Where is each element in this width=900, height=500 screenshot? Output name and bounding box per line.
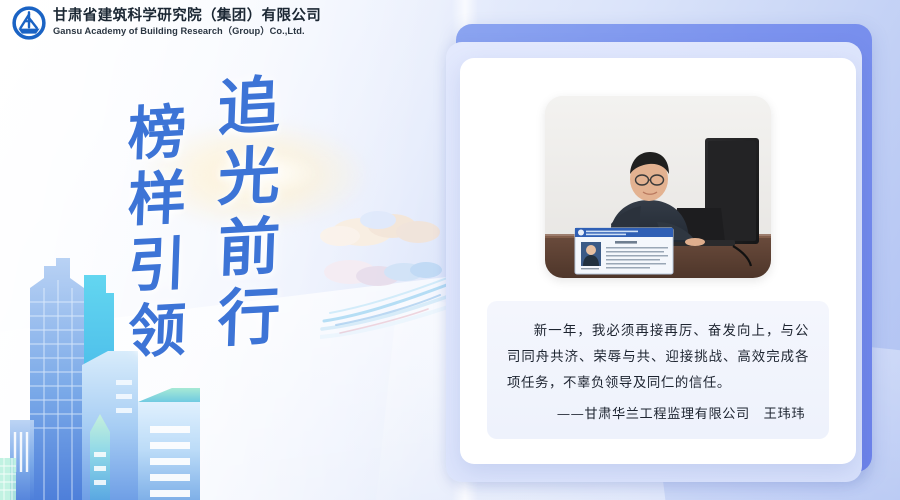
quote-text: 新一年，我必须再接再厉、奋发向上，与公司同舟共济、荣辱与共、迎接挑战、高效完成各… [507,319,809,397]
company-name-cn: 甘肃省建筑科学研究院（集团）有限公司 [53,9,321,24]
gansu-academy-circular-logo-icon [12,6,46,40]
employee-photo-illustration-icon [545,96,771,278]
brand-text: 甘肃省建筑科学研究院（集团）有限公司 Gansu Academy of Buil… [53,9,321,36]
company-header: 甘肃省建筑科学研究院（集团）有限公司 Gansu Academy of Buil… [12,6,321,40]
city-skyline-illustration-icon [0,170,224,500]
testimonial-card: 新一年，我必须再接再厉、奋发向上，与公司同舟共济、荣辱与共、迎接挑战、高效完成各… [460,58,856,464]
company-name-en: Gansu Academy of Building Research（Group… [53,27,321,36]
quote-attribution: ——甘肃华兰工程监理有限公司 王玮玮 [507,403,809,422]
poster-canvas: 甘肃省建筑科学研究院（集团）有限公司 Gansu Academy of Buil… [0,0,900,500]
quote-container: 新一年，我必须再接再厉、奋发向上，与公司同舟共济、荣辱与共、迎接挑战、高效完成各… [487,301,829,439]
employee-photo [545,96,771,278]
